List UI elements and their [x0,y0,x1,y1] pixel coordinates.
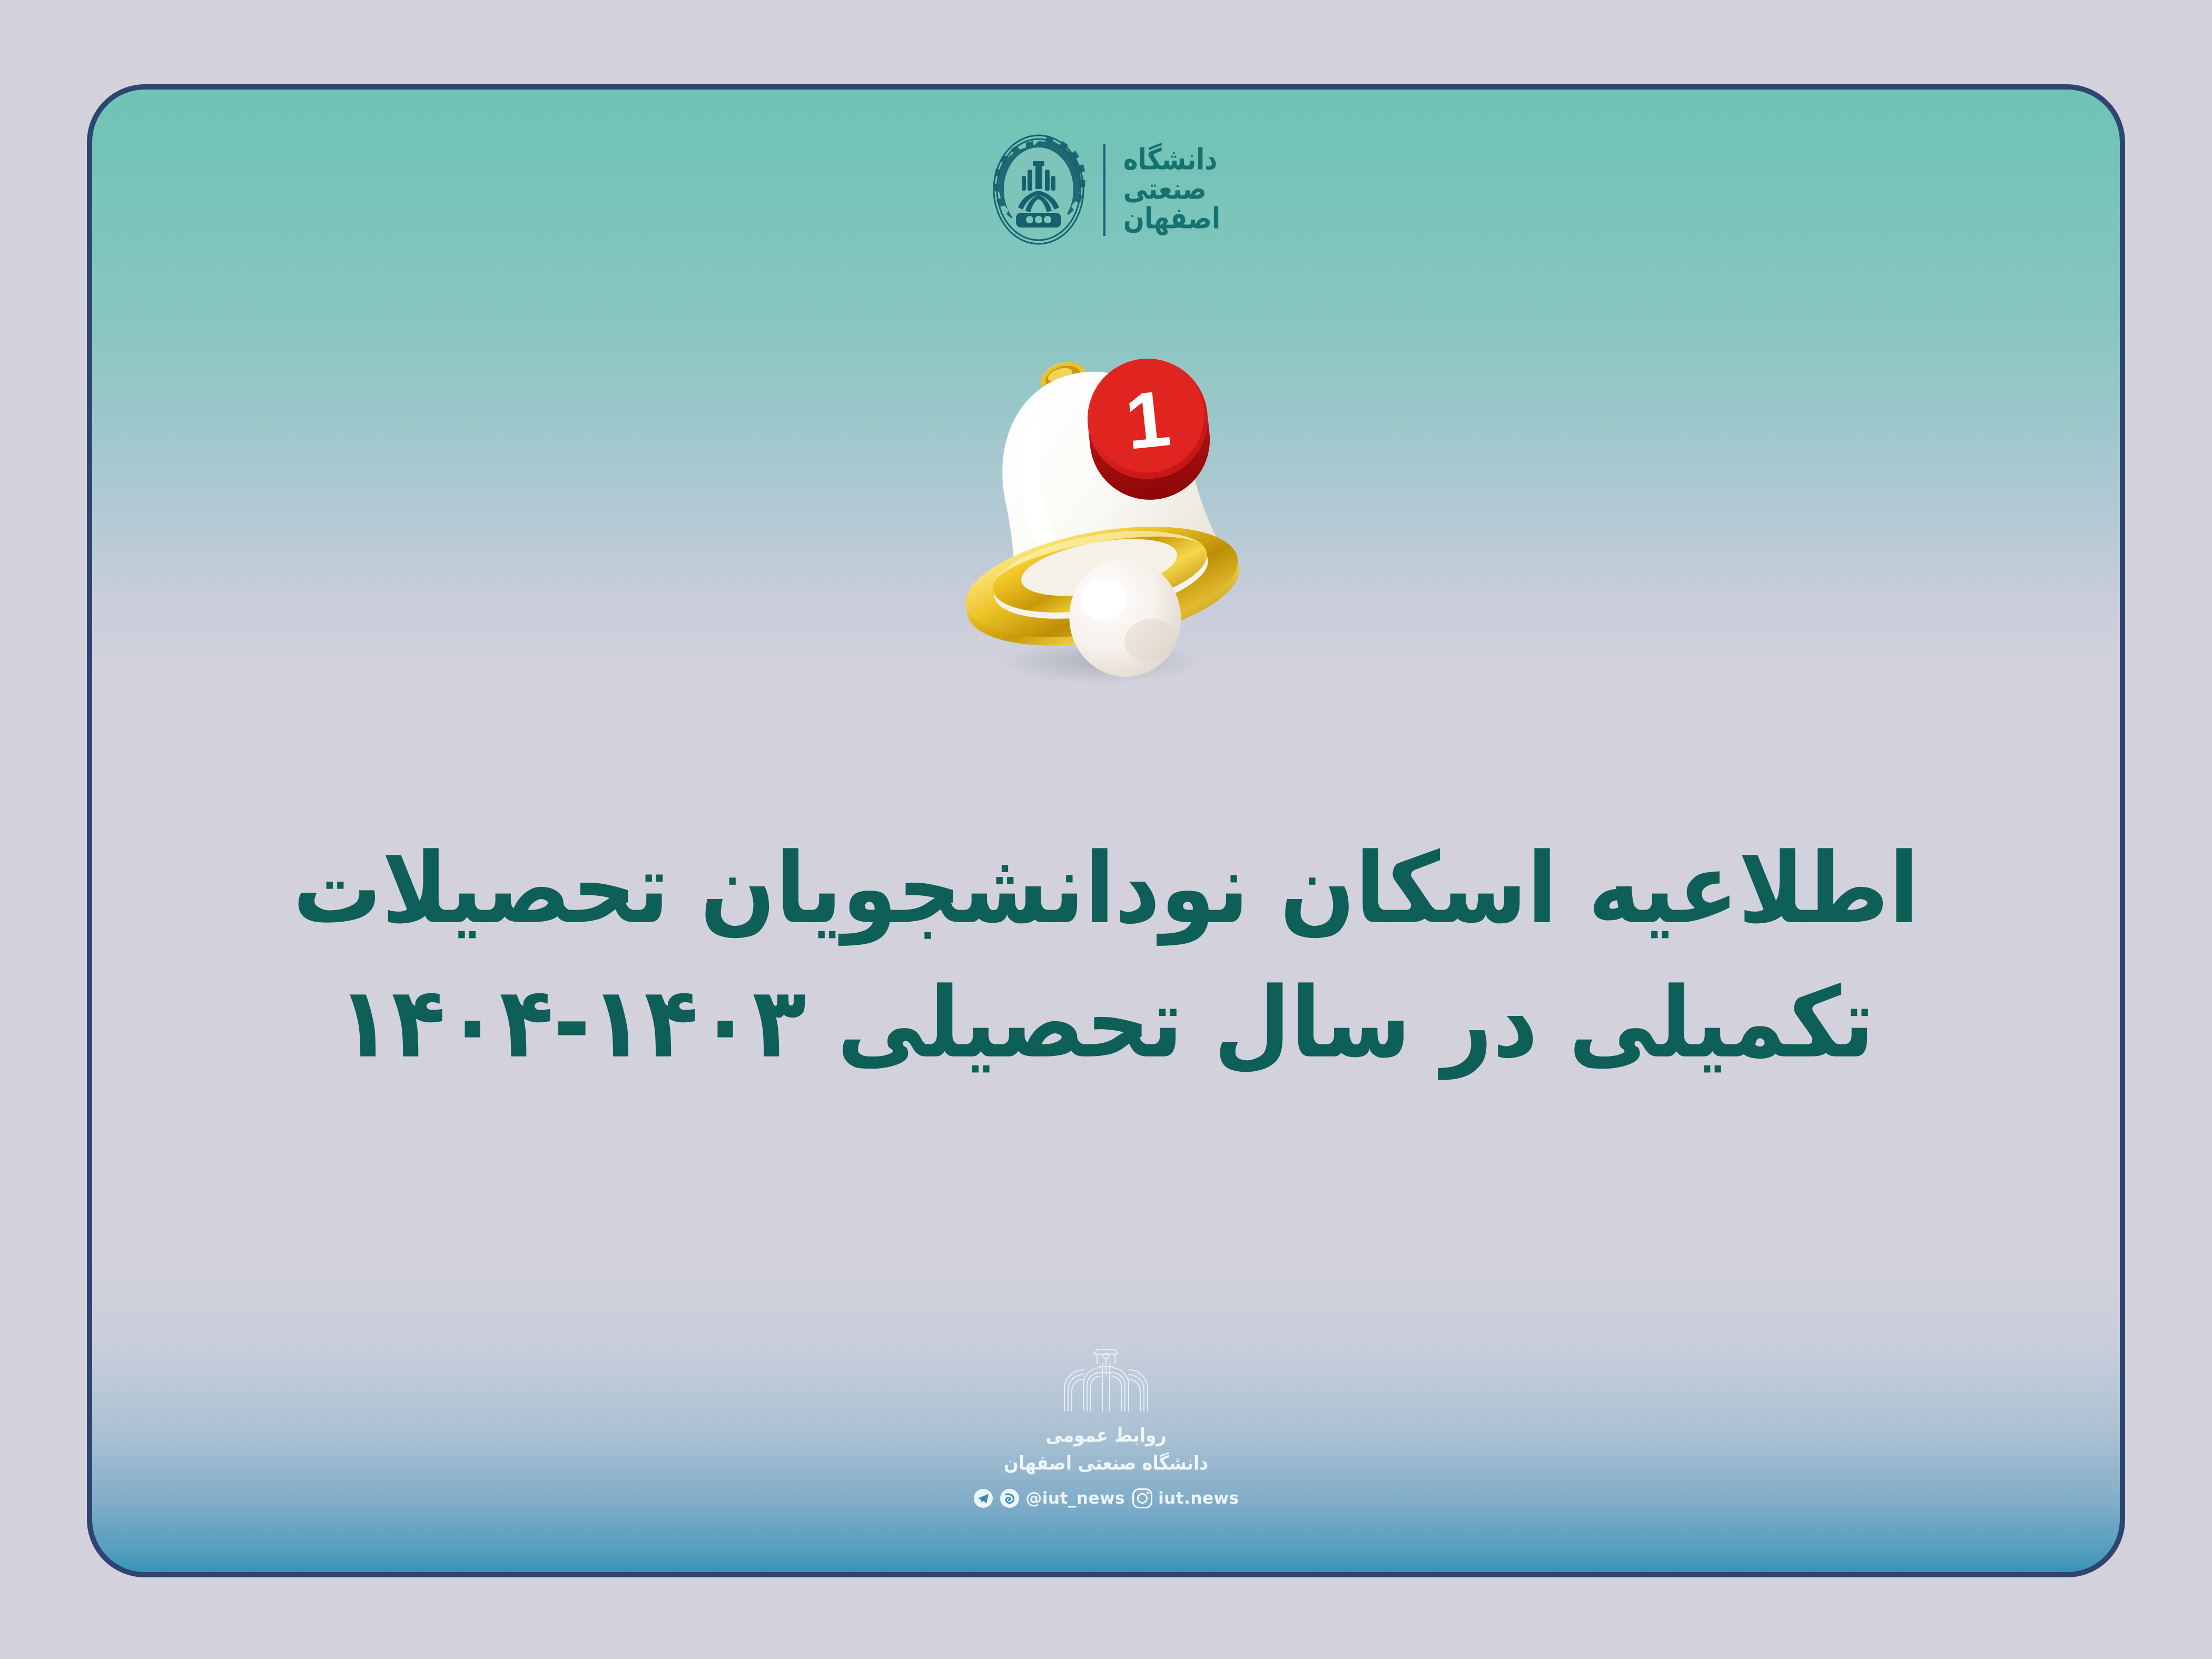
wordmark-line-1: دانشگاه [1123,145,1217,176]
instagram-icon[interactable] [1132,1488,1153,1509]
wordmark-line-2: صنعتی [1123,174,1207,205]
poster-card: دانشگاه صنعتی اصفهان [87,84,2125,1577]
headline-line-2: تکمیلی در سال تحصیلی ۱۴۰۳-۱۴۰۴ [187,950,2025,1098]
headline-line-1: اطلاعیه اسکان نودانشجویان تحصیلات [187,815,2025,963]
messenger-handle[interactable]: @iut_news [1025,1489,1125,1508]
badge-count-text: 1 [1121,373,1174,466]
instagram-handle[interactable]: iut.news [1158,1489,1239,1508]
footer-organization: روابط عمومی [1045,1422,1166,1448]
notification-bell-3d-icon: 1 [916,308,1296,698]
instagram-link[interactable]: iut.news [1132,1488,1239,1509]
telegram-icon[interactable] [973,1488,994,1509]
footer-university: دانشگاه صنعتی اصفهان [1004,1450,1208,1477]
messenger-links[interactable]: @iut_news [973,1488,1125,1509]
bale-icon[interactable] [999,1488,1020,1509]
university-logo-lockup: دانشگاه صنعتی اصفهان [92,121,2120,258]
university-wordmark: دانشگاه صنعتی اصفهان [1123,147,1220,232]
public-relations-towers-icon [1040,1342,1172,1416]
poster-footer: روابط عمومی دانشگاه صنعتی اصفهان iut.new… [92,1342,2120,1509]
wordmark-line-3: اصفهان [1123,203,1220,234]
poster-canvas: دانشگاه صنعتی اصفهان [0,0,2212,1659]
social-links: iut.news @iut_news [973,1488,1239,1509]
page-title: اطلاعیه اسکان نودانشجویان تحصیلات تکمیلی… [187,822,2025,1091]
logo-divider [1103,144,1105,236]
university-crest-icon [992,134,1085,245]
